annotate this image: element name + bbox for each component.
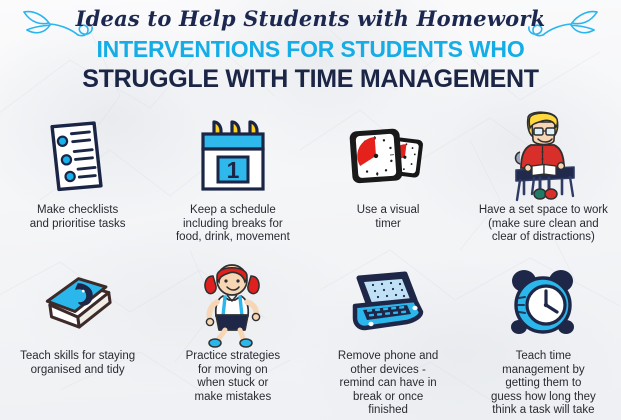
tip-caption: Teach skills for staying organised and t… xyxy=(18,350,137,377)
girl-walking-icon-box xyxy=(197,258,269,350)
laptop-icon xyxy=(345,270,431,338)
calendar-icon: 1 xyxy=(194,116,272,196)
tip-caption: Practice strategies for moving on when s… xyxy=(184,350,283,404)
tips-row-1: Make checklists and prioritise tasks 1 K… xyxy=(0,108,621,256)
alarm-clock-icon-box xyxy=(504,258,582,350)
student-at-desk-icon xyxy=(504,108,582,204)
book-icon xyxy=(38,271,118,337)
tip-caption: Teach time management by getting them to… xyxy=(489,350,598,418)
checklist-icon-box xyxy=(45,108,111,204)
poster-header: Ideas to Help Students with Homework INT… xyxy=(0,0,621,100)
checklist-icon xyxy=(45,117,111,195)
poster-headline-line-2: STRUGGLE WITH TIME MANAGEMENT xyxy=(0,65,621,94)
tip-card-set-space: Have a set space to work (make sure clea… xyxy=(466,108,621,256)
tip-caption: Use a visual timer xyxy=(355,204,422,231)
tip-card-schedule: 1 Keep a schedule including breaks for f… xyxy=(155,108,310,256)
calendar-icon-box: 1 xyxy=(194,108,272,204)
laptop-icon-box xyxy=(345,258,431,350)
calendar-day-number: 1 xyxy=(226,157,239,183)
tip-card-organised: Teach skills for staying organised and t… xyxy=(0,258,155,418)
tip-card-checklist: Make checklists and prioritise tasks xyxy=(0,108,155,256)
tip-caption: Keep a schedule including breaks for foo… xyxy=(174,204,292,245)
visual-timer-icon-box xyxy=(347,108,429,204)
poster-script-title: Ideas to Help Students with Homework xyxy=(0,6,621,31)
girl-walking-icon xyxy=(197,260,269,348)
tips-row-2: Teach skills for staying organised and t… xyxy=(0,258,621,418)
infographic-poster: Ideas to Help Students with Homework INT… xyxy=(0,0,621,420)
student-at-desk-icon-box xyxy=(504,108,582,204)
visual-timer-icon xyxy=(347,120,429,192)
alarm-clock-icon xyxy=(504,265,582,343)
poster-headline-line-1: INTERVENTIONS FOR STUDENTS WHO xyxy=(0,36,621,63)
tip-caption: Have a set space to work (make sure clea… xyxy=(477,204,610,245)
tip-card-estimate-time: Teach time management by getting them to… xyxy=(466,258,621,418)
book-icon-box xyxy=(38,258,118,350)
tip-card-visual-timer: Use a visual timer xyxy=(311,108,466,256)
tip-card-remove-devices: Remove phone and other devices - remind … xyxy=(311,258,466,418)
tip-caption: Make checklists and prioritise tasks xyxy=(28,204,128,231)
tip-card-moving-on: Practice strategies for moving on when s… xyxy=(155,258,310,418)
tip-caption: Remove phone and other devices - remind … xyxy=(336,350,440,418)
